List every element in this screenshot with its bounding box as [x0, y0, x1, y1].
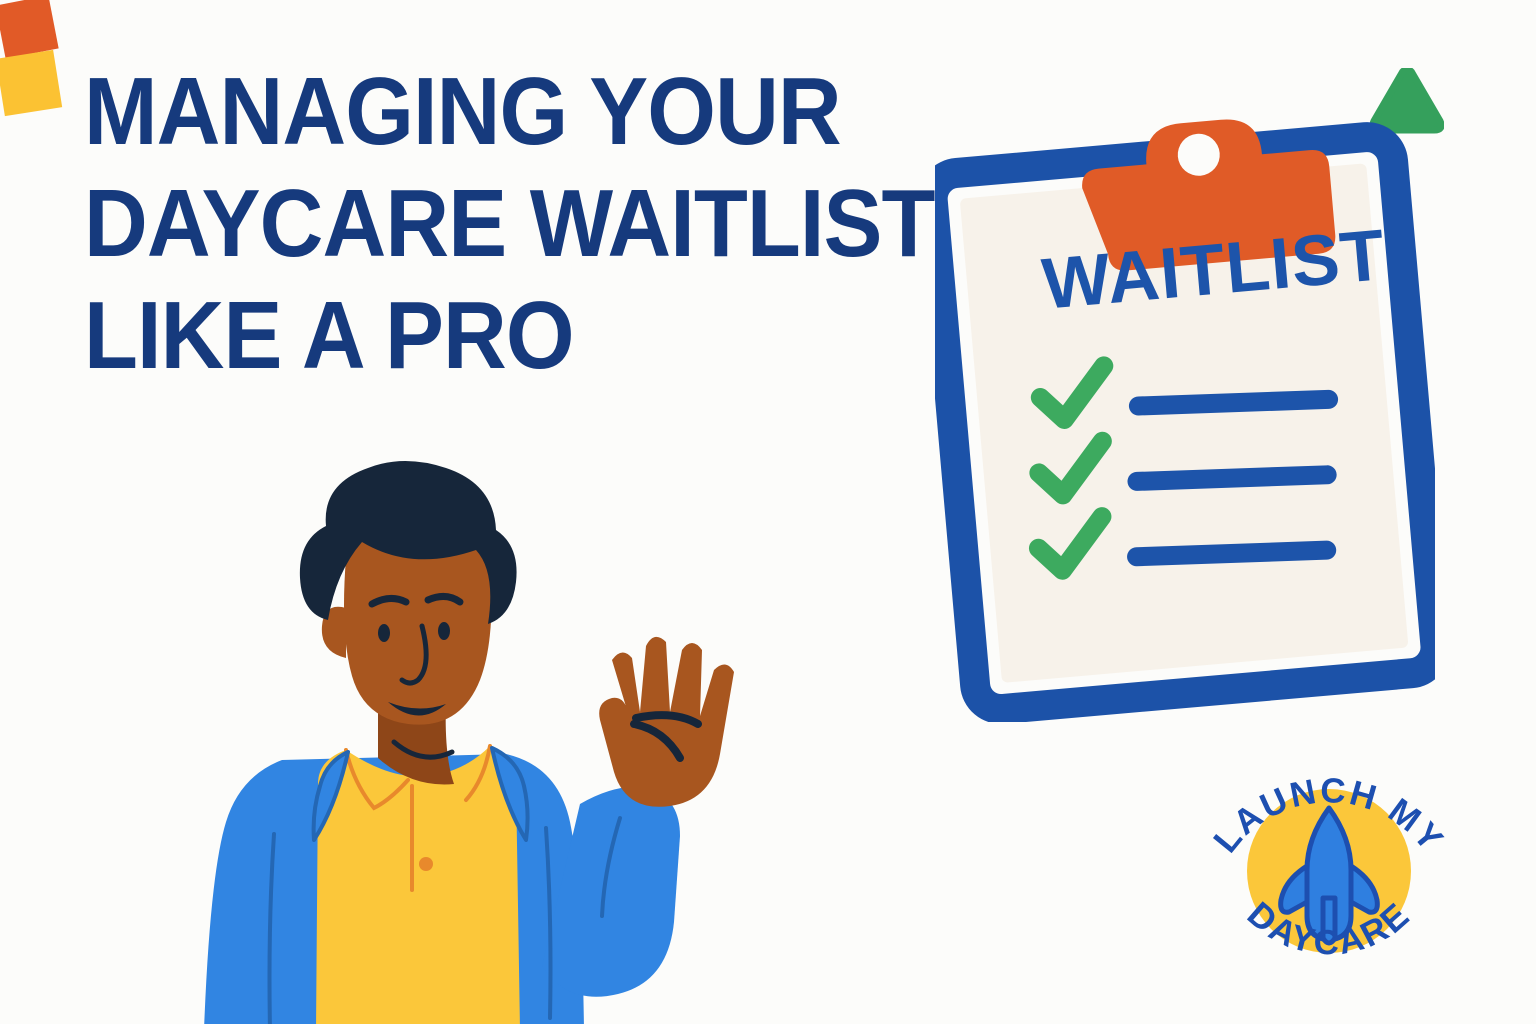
- eye-right: [438, 622, 450, 640]
- headline-line-2: DAYCARE WAITLIST: [84, 168, 949, 280]
- decorative-square-yellow: [0, 50, 62, 116]
- page-title: MANAGING YOUR DAYCARE WAITLIST LIKE A PR…: [84, 56, 1024, 392]
- person-illustration: [150, 430, 830, 1024]
- headline-line-3: LIKE A PRO: [84, 280, 949, 392]
- shirt: [316, 746, 520, 1024]
- headline-line-1: MANAGING YOUR: [84, 56, 949, 168]
- hero-graphic-canvas: MANAGING YOUR DAYCARE WAITLIST LIKE A PR…: [0, 0, 1536, 1024]
- logo-launch-my-daycare[interactable]: LAUNCH MY DAYCARE: [1184, 726, 1474, 1016]
- eye-left: [378, 624, 390, 642]
- shirt-button: [419, 857, 433, 871]
- waving-hand: [599, 637, 734, 807]
